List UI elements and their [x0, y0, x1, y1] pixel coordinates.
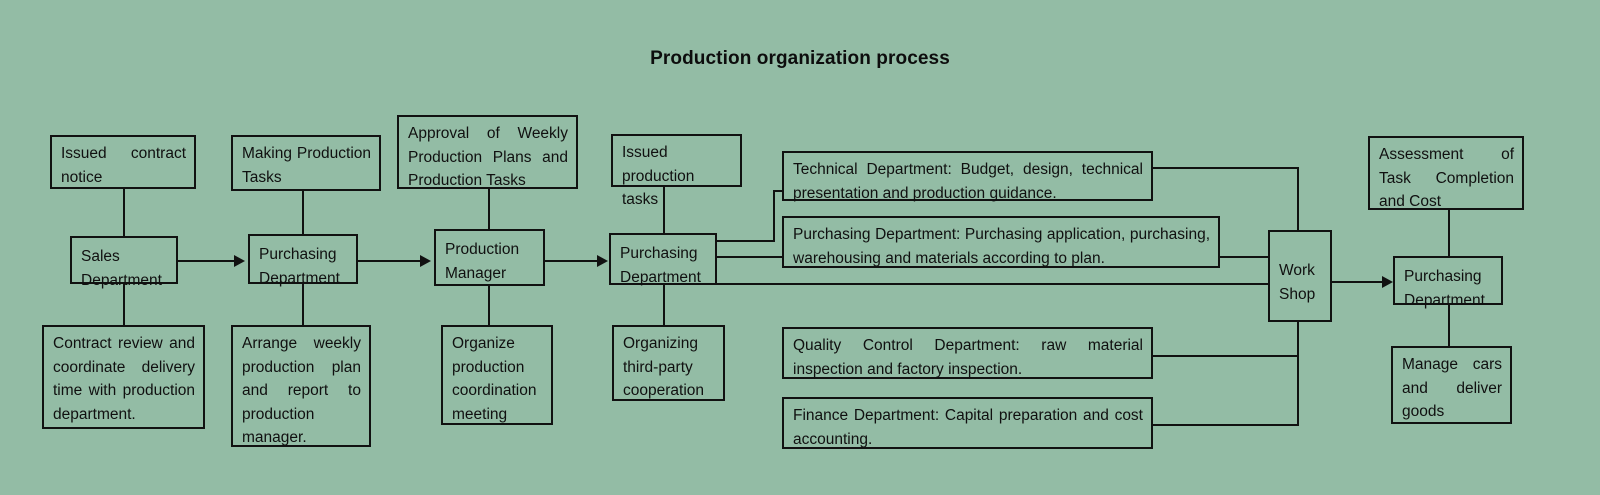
detail-technical-department: Technical Department: Budget, design, te…: [782, 151, 1153, 201]
detail-quality-control-department: Quality Control Department: raw material…: [782, 327, 1153, 379]
connector-production-manager-to-meeting: [488, 286, 490, 325]
note-making-production-tasks: Making Production Tasks: [231, 135, 381, 191]
node-purchasing-department-3-line1: Purchasing: [1404, 265, 1492, 289]
connector-quality-to-workshop-h: [1153, 355, 1299, 357]
node-purchasing-department-3-line2: Department: [1404, 289, 1492, 313]
arrowhead-sales-to-purchasing1: [234, 255, 245, 267]
node-purchasing-department-2[interactable]: Purchasing Department: [609, 233, 717, 285]
connector-technical-to-workshop-v: [1297, 167, 1299, 233]
node-production-manager-line1: Production: [445, 238, 534, 262]
node-production-manager-line2: Manager: [445, 262, 534, 286]
connector-finance-to-workshop-v: [1297, 320, 1299, 426]
arrowhead-production-manager-to-purchasing2: [597, 255, 608, 267]
node-work-shop-line2: Shop: [1279, 283, 1321, 307]
connector-purchasing1-to-production-manager: [358, 260, 420, 262]
detail-finance-department: Finance Department: Capital preparation …: [782, 397, 1153, 449]
connector-workshop-to-purchasing3: [1332, 281, 1382, 283]
node-sales-department-line2: Department: [81, 269, 167, 293]
note-contract-review: Contract review and coordinate delivery …: [42, 325, 205, 429]
node-sales-department-line1: Sales: [81, 245, 167, 269]
connector-purchasing2-trunk-to-workshop: [717, 283, 1299, 285]
connector-purchasing2-branch-technical-v: [773, 190, 775, 242]
connector-sales-to-purchasing1: [178, 260, 234, 262]
connector-production-manager-to-purchasing2: [545, 260, 597, 262]
note-manage-cars-deliver: Manage cars and deliver goods: [1391, 346, 1512, 424]
node-work-shop[interactable]: Work Shop: [1268, 230, 1332, 322]
connector-purchasing2-to-third-party: [663, 285, 665, 325]
detail-purchasing-department: Purchasing Department: Purchasing applic…: [782, 216, 1220, 268]
node-purchasing-department-1-line1: Purchasing: [259, 243, 347, 267]
note-arrange-weekly-plan: Arrange weekly production plan and repor…: [231, 325, 371, 447]
page-title: Production organization process: [0, 48, 1600, 70]
node-purchasing-department-1-line2: Department: [259, 267, 347, 291]
connector-approval-to-production-manager: [488, 188, 490, 229]
connector-finance-to-workshop-h: [1153, 424, 1299, 426]
connector-assessment-to-purchasing3: [1448, 210, 1450, 257]
note-organizing-third-party: Organizing third-party cooperation: [612, 325, 725, 401]
arrowhead-workshop-to-purchasing3: [1382, 276, 1393, 288]
note-organize-coordination-meeting: Organize production coordination meeting: [441, 325, 553, 425]
connector-purchasing2-branch-technical-h1: [717, 240, 775, 242]
node-purchasing-department-1[interactable]: Purchasing Department: [248, 234, 358, 284]
arrowhead-purchasing1-to-production-manager: [420, 255, 431, 267]
connector-making-tasks-to-purchasing1: [302, 190, 304, 235]
node-production-manager[interactable]: Production Manager: [434, 229, 545, 286]
node-purchasing-department-2-line2: Department: [620, 266, 706, 290]
node-purchasing-department-3[interactable]: Purchasing Department: [1393, 256, 1503, 305]
note-issued-contract-notice: Issued contract notice: [50, 135, 196, 189]
connector-contract-notice-to-sales: [123, 188, 125, 238]
note-approval-weekly-plans: Approval of Weekly Production Plans and …: [397, 115, 578, 189]
node-sales-department[interactable]: Sales Department: [70, 236, 178, 284]
connector-purchasing2-branch-purchasing: [717, 256, 785, 258]
note-assessment-task-completion: Assessment of Task Completion and Cost: [1368, 136, 1524, 210]
node-purchasing-department-2-line1: Purchasing: [620, 242, 706, 266]
note-issued-production-tasks: Issued production tasks: [611, 134, 742, 187]
connector-issued-tasks-to-purchasing2: [663, 186, 665, 234]
node-work-shop-line1: Work: [1279, 259, 1321, 283]
connector-technical-to-workshop-h: [1153, 167, 1299, 169]
